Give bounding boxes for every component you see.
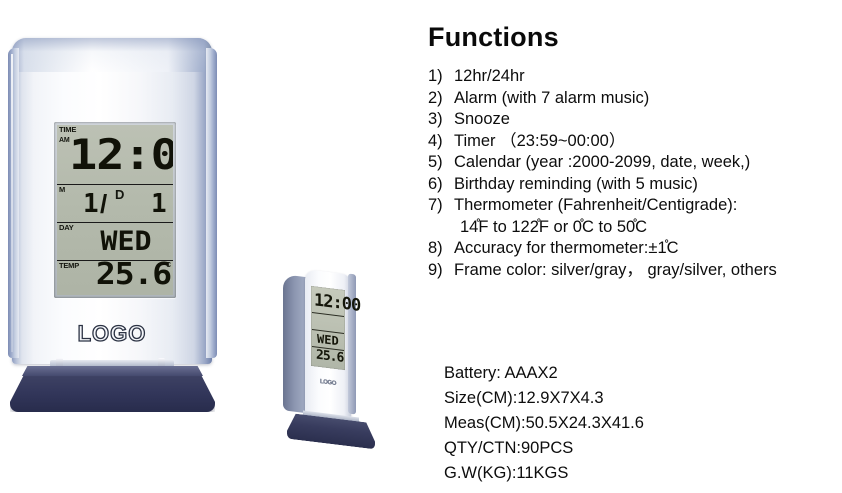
function-text: Accuracy for thermometer:±1̊C bbox=[454, 238, 838, 260]
clock-stand-hinge bbox=[50, 360, 174, 367]
lcd-month-date-separator: / bbox=[100, 188, 107, 220]
small-lcd-time-value: 12:00 bbox=[314, 290, 360, 316]
clock-edge-highlight bbox=[11, 54, 13, 352]
specification-text-column: Functions 1) 12hr/24hr 2) Alarm (with 7 … bbox=[420, 0, 842, 493]
function-item: 4) Timer （23:59~00:00） bbox=[428, 131, 838, 153]
function-item: 7) Thermometer (Fahrenheit/Centigrade): bbox=[428, 195, 838, 217]
function-item: 5) Calendar (year :2000-2099, date, week… bbox=[428, 152, 838, 174]
spec-gross-weight: G.W(KG):11KGS bbox=[444, 461, 824, 486]
function-number: 2) bbox=[428, 88, 454, 110]
clock-logo-text: LOGO bbox=[8, 321, 216, 347]
small-lcd-temp-value: 25.6 bbox=[316, 348, 343, 367]
lcd-bezel: TIME AM 12:00 M / D 1 1 DAY bbox=[54, 122, 176, 298]
function-text: Alarm (with 7 alarm music) bbox=[454, 88, 838, 110]
function-number: 8) bbox=[428, 238, 454, 260]
functions-list: 1) 12hr/24hr 2) Alarm (with 7 alarm musi… bbox=[428, 66, 838, 281]
clock-right-edge bbox=[206, 48, 217, 358]
function-text: 12hr/24hr bbox=[454, 66, 838, 88]
small-clock-product-photo: 12:00 WED 25.6 LOGO bbox=[281, 268, 387, 456]
function-text: Birthday reminding (with 5 music) bbox=[454, 174, 838, 196]
spec-qty-per-carton: QTY/CTN:90PCS bbox=[444, 436, 824, 461]
spec-size: Size(CM):12.9X7X4.3 bbox=[444, 386, 824, 411]
function-item: 6) Birthday reminding (with 5 music) bbox=[428, 174, 838, 196]
function-item: 2) Alarm (with 7 alarm music) bbox=[428, 88, 838, 110]
function-item: 1) 12hr/24hr bbox=[428, 66, 838, 88]
function-number: 1) bbox=[428, 66, 454, 88]
function-text: Thermometer (Fahrenheit/Centigrade): bbox=[454, 195, 838, 217]
product-spec-sheet: TIME AM 12:00 M / D 1 1 DAY bbox=[0, 0, 842, 493]
lcd-date-value: 1 bbox=[151, 187, 167, 221]
lcd-temp-value: 25.6 bbox=[63, 257, 171, 293]
small-lcd-weekday-value: WED bbox=[317, 332, 339, 349]
function-number: 7) bbox=[428, 195, 454, 217]
lcd-row-temperature: TEMP °C 25.6 bbox=[57, 261, 173, 295]
function-number: 9) bbox=[428, 260, 454, 282]
lcd-month-value: 1 bbox=[83, 187, 99, 221]
main-clock-product-photo: TIME AM 12:00 M / D 1 1 DAY bbox=[8, 38, 218, 400]
function-text: Timer （23:59~00:00） bbox=[454, 131, 838, 153]
small-clock-base-stand bbox=[287, 413, 375, 450]
function-number: 3) bbox=[428, 109, 454, 131]
lcd-ampm-indicator: AM bbox=[59, 137, 70, 145]
lcd-weekday-label: DAY bbox=[59, 224, 74, 232]
function-number: 6) bbox=[428, 174, 454, 196]
lcd-screen: TIME AM 12:00 M / D 1 1 DAY bbox=[57, 125, 173, 295]
lcd-time-value: 12:00 bbox=[69, 127, 173, 183]
product-image-area: TIME AM 12:00 M / D 1 1 DAY bbox=[0, 0, 420, 493]
spec-battery: Battery: AAAX2 bbox=[444, 361, 824, 386]
lcd-row-time: TIME AM 12:00 bbox=[57, 125, 173, 185]
lcd-weekday-value: WED bbox=[77, 225, 173, 259]
function-number: 5) bbox=[428, 152, 454, 174]
small-clock-lcd-screen: 12:00 WED 25.6 bbox=[311, 286, 345, 370]
function-item: 8) Accuracy for thermometer:±1̊C bbox=[428, 238, 838, 260]
lcd-month-label: M bbox=[59, 186, 65, 194]
function-subtext: 14̊F to 122̊F or 0̊C to 50̊C bbox=[460, 217, 838, 239]
lcd-row-month-date: M / D 1 1 bbox=[57, 185, 173, 223]
function-item: 3) Snooze bbox=[428, 109, 838, 131]
function-item: 9) Frame color: silver/gray， gray/silver… bbox=[428, 260, 838, 282]
clock-left-edge bbox=[8, 48, 19, 358]
lcd-row-weekday: DAY WED bbox=[57, 223, 173, 261]
spec-measurement: Meas(CM):50.5X24.3X41.6 bbox=[444, 411, 824, 436]
functions-heading: Functions bbox=[428, 22, 559, 53]
clock-base-top-face bbox=[22, 366, 203, 376]
clock-top-cap bbox=[12, 38, 212, 72]
function-text: Frame color: silver/gray， gray/silver, o… bbox=[454, 260, 838, 282]
lcd-date-label: D bbox=[115, 187, 124, 202]
function-text: Snooze bbox=[454, 109, 838, 131]
function-number: 4) bbox=[428, 131, 454, 153]
function-text: Calendar (year :2000-2099, date, week,) bbox=[454, 152, 838, 174]
specifications-block: Battery: AAAX2 Size(CM):12.9X7X4.3 Meas(… bbox=[444, 361, 824, 486]
